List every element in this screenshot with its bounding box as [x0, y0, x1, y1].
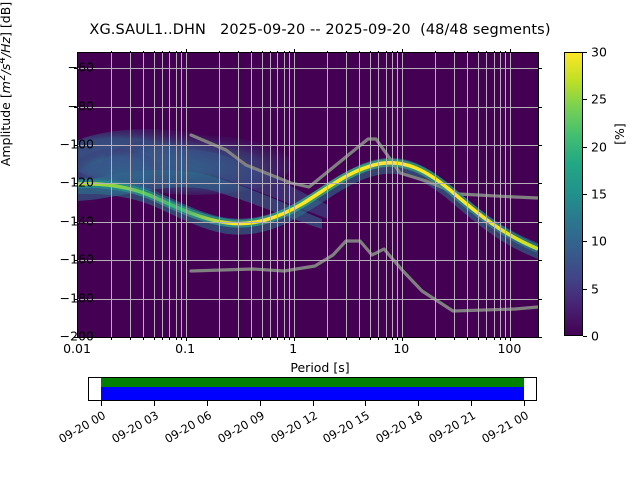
timeline-ticklabel: 09-20 06	[153, 408, 214, 451]
x-axis-tick-top	[359, 51, 360, 54]
x-axis-tick	[392, 337, 393, 340]
gridline-vertical-minor	[478, 53, 479, 337]
gridline-vertical-minor	[346, 53, 347, 337]
x-axis-tick	[494, 337, 495, 340]
y-axis-tick-right	[538, 222, 542, 223]
gridline-vertical-minor	[284, 53, 285, 337]
gridline-vertical-minor	[277, 53, 278, 337]
timeline-tick	[524, 401, 525, 406]
x-axis-tick-top	[143, 51, 144, 54]
gridline-vertical-minor	[181, 53, 182, 337]
x-axis-ticklabel: 10	[393, 341, 409, 356]
gridline-horizontal	[78, 260, 538, 261]
x-axis-tick-top	[294, 49, 295, 53]
gridline-vertical-minor	[378, 53, 379, 337]
x-axis-tick-top	[111, 51, 112, 54]
x-axis-tick-top	[181, 51, 182, 54]
colorbar-ticklabel: 10	[591, 234, 607, 249]
colorbar-ticklabel: 25	[591, 92, 607, 107]
colorbar-tick	[583, 194, 587, 195]
gridline-vertical-minor	[176, 53, 177, 337]
x-axis-tick-top	[154, 51, 155, 54]
x-axis-tick	[154, 337, 155, 340]
colorbar-label: [%]	[612, 74, 627, 194]
y-axis-tick-right	[538, 260, 542, 261]
y-axis-ticklabel: −60	[68, 60, 94, 75]
gridline-vertical-minor	[154, 53, 155, 337]
x-axis-tick-top	[238, 51, 239, 54]
gridline-vertical-minor	[505, 53, 506, 337]
gridline-vertical-minor	[386, 53, 387, 337]
gridline-horizontal	[78, 183, 538, 184]
x-axis-tick	[505, 337, 506, 340]
x-axis-tick-top	[505, 51, 506, 54]
x-axis-tick	[346, 337, 347, 340]
x-axis-tick	[181, 337, 182, 340]
gridline-vertical-major	[294, 53, 295, 337]
x-axis-tick	[467, 337, 468, 340]
gridline-vertical-minor	[262, 53, 263, 337]
gridline-vertical-minor	[169, 53, 170, 337]
x-axis-tick	[238, 337, 239, 340]
x-axis-tick	[486, 337, 487, 340]
gridline-vertical-minor	[494, 53, 495, 337]
x-axis-tick-top	[327, 51, 328, 54]
x-axis-tick-top	[270, 51, 271, 54]
x-axis-tick-top	[478, 51, 479, 54]
x-axis-tick-top	[251, 51, 252, 54]
gridline-vertical-major	[186, 53, 187, 337]
timeline-ticklabel: 09-20 12	[259, 408, 320, 451]
gridline-vertical-minor	[238, 53, 239, 337]
y-axis-tick-right	[538, 107, 542, 108]
timeline-tick	[471, 401, 472, 406]
x-axis-tick	[378, 337, 379, 340]
colorbar-tick	[583, 147, 587, 148]
colorbar-ticklabel: 5	[591, 281, 599, 296]
gridline-vertical-minor	[397, 53, 398, 337]
x-axis-tick-top	[176, 51, 177, 54]
x-axis-tick-top	[162, 51, 163, 54]
x-axis-tick-top	[435, 51, 436, 54]
gridline-vertical-minor	[251, 53, 252, 337]
y-axis-tick-right	[538, 183, 542, 184]
gridline-vertical-minor	[370, 53, 371, 337]
timeline-tick	[365, 401, 366, 406]
x-axis-tick	[289, 337, 290, 340]
timeline-axes[interactable]	[88, 377, 537, 401]
gridline-horizontal	[78, 145, 538, 146]
timeline-ticklabel: 09-20 15	[312, 408, 373, 451]
x-axis-tick-top	[186, 49, 187, 53]
timeline-tick	[101, 401, 102, 406]
x-axis-tick	[111, 337, 112, 340]
x-axis-tick-top	[510, 49, 511, 53]
x-axis-tick-top	[386, 51, 387, 54]
y-axis-label: Amplitude [m2/s4/Hz] [dB]	[0, 0, 13, 194]
ppsd-data-layer	[78, 53, 538, 337]
x-axis-tick-top	[262, 51, 263, 54]
x-axis-tick	[386, 337, 387, 340]
x-axis-tick	[169, 337, 170, 340]
timeline-ticklabel: 09-20 03	[100, 408, 161, 451]
x-axis-tick	[500, 337, 501, 340]
timeline-ticklabel: 09-20 21	[417, 408, 478, 451]
x-axis-tick	[130, 337, 131, 340]
x-axis-tick-top	[397, 51, 398, 54]
x-axis-ticklabel: 100	[497, 341, 521, 356]
x-axis-tick	[359, 337, 360, 340]
x-axis-tick	[251, 337, 252, 340]
gridline-vertical-minor	[143, 53, 144, 337]
x-axis-tick-top	[370, 51, 371, 54]
gridline-vertical-minor	[359, 53, 360, 337]
gridline-vertical-minor	[327, 53, 328, 337]
y-axis-tick-right	[538, 145, 542, 146]
timeline-coverage-bar	[101, 387, 524, 400]
x-axis-tick-top	[130, 51, 131, 54]
x-axis-tick	[284, 337, 285, 340]
x-axis-tick	[162, 337, 163, 340]
gridline-vertical-minor	[270, 53, 271, 337]
y-axis-tick-right	[538, 68, 542, 69]
plot-title: XG.SAUL1..DHN 2025-09-20 -- 2025-09-20 (…	[0, 22, 640, 38]
timeline-tick	[207, 401, 208, 406]
timeline-tick	[154, 401, 155, 406]
colorbar-tick	[583, 99, 587, 100]
x-axis-tick-top	[169, 51, 170, 54]
x-axis-tick-top	[500, 51, 501, 54]
y-axis-ticklabel: −140	[60, 213, 94, 228]
x-axis-tick	[327, 337, 328, 340]
gridline-vertical-minor	[219, 53, 220, 337]
ppsd-figure: XG.SAUL1..DHN 2025-09-20 -- 2025-09-20 (…	[0, 0, 640, 480]
x-axis-tick-top	[454, 51, 455, 54]
gridline-vertical-minor	[289, 53, 290, 337]
x-axis-tick-top	[467, 51, 468, 54]
x-axis-tick	[454, 337, 455, 340]
gridline-vertical-minor	[435, 53, 436, 337]
x-axis-tick-top	[392, 51, 393, 54]
y-axis-ticklabel: −120	[60, 175, 94, 190]
x-axis-ticklabel: 1	[289, 341, 297, 356]
x-axis-tick-top	[219, 51, 220, 54]
colorbar	[564, 52, 583, 336]
x-axis-tick-top	[402, 49, 403, 53]
timeline-tick	[418, 401, 419, 406]
x-axis-tick	[277, 337, 278, 340]
gridline-vertical-minor	[162, 53, 163, 337]
x-axis-tick	[219, 337, 220, 340]
timeline-ticklabel: 09-21 00	[470, 408, 531, 451]
ppsd-heatmap-axes[interactable]	[77, 52, 539, 338]
x-axis-tick-top	[277, 51, 278, 54]
colorbar-tick	[583, 336, 587, 337]
x-axis-tick	[143, 337, 144, 340]
colorbar-tick	[583, 289, 587, 290]
x-axis-tick	[262, 337, 263, 340]
gridline-horizontal	[78, 68, 538, 69]
y-axis-ticklabel: −180	[60, 290, 94, 305]
x-axis-tick-top	[284, 51, 285, 54]
gridline-vertical-minor	[392, 53, 393, 337]
x-axis-tick-top	[486, 51, 487, 54]
timeline-data-bar	[101, 378, 524, 387]
timeline-ticklabel: 09-20 09	[206, 408, 267, 451]
gridline-vertical-minor	[486, 53, 487, 337]
gridline-vertical-minor	[111, 53, 112, 337]
timeline-tick	[313, 401, 314, 406]
x-axis-tick	[397, 337, 398, 340]
x-axis-tick-top	[494, 51, 495, 54]
colorbar-tick	[583, 241, 587, 242]
colorbar-tick	[583, 52, 587, 53]
y-axis-tick-right	[538, 337, 542, 338]
x-axis-tick-top	[378, 51, 379, 54]
colorbar-ticklabel: 30	[591, 45, 607, 60]
y-axis-ticklabel: −100	[60, 137, 94, 152]
gridline-vertical-minor	[500, 53, 501, 337]
gridline-horizontal	[78, 299, 538, 300]
colorbar-ticklabel: 15	[591, 187, 607, 202]
gridline-vertical-minor	[130, 53, 131, 337]
x-axis-label: Period [s]	[0, 360, 640, 375]
x-axis-ticklabel: 0.1	[175, 341, 195, 356]
timeline-ticklabel: 09-20 00	[47, 408, 108, 451]
gridline-vertical-major	[510, 53, 511, 337]
y-axis-ticklabel: −160	[60, 252, 94, 267]
x-axis-tick	[478, 337, 479, 340]
x-axis-tick-top	[346, 51, 347, 54]
x-axis-ticklabel: 0.01	[63, 341, 91, 356]
timeline-tick	[260, 401, 261, 406]
gridline-horizontal	[78, 107, 538, 108]
x-axis-tick-top	[289, 51, 290, 54]
gridline-vertical-minor	[454, 53, 455, 337]
x-axis-tick	[370, 337, 371, 340]
y-axis-ticklabel: −80	[68, 98, 94, 113]
x-axis-tick	[435, 337, 436, 340]
timeline-ticklabel: 09-20 18	[365, 408, 426, 451]
y-axis-tick-right	[538, 299, 542, 300]
gridline-vertical-major	[402, 53, 403, 337]
x-axis-tick	[176, 337, 177, 340]
gridline-vertical-minor	[467, 53, 468, 337]
x-axis-tick	[270, 337, 271, 340]
gridline-horizontal	[78, 222, 538, 223]
colorbar-ticklabel: 0	[591, 329, 599, 344]
colorbar-ticklabel: 20	[591, 139, 607, 154]
